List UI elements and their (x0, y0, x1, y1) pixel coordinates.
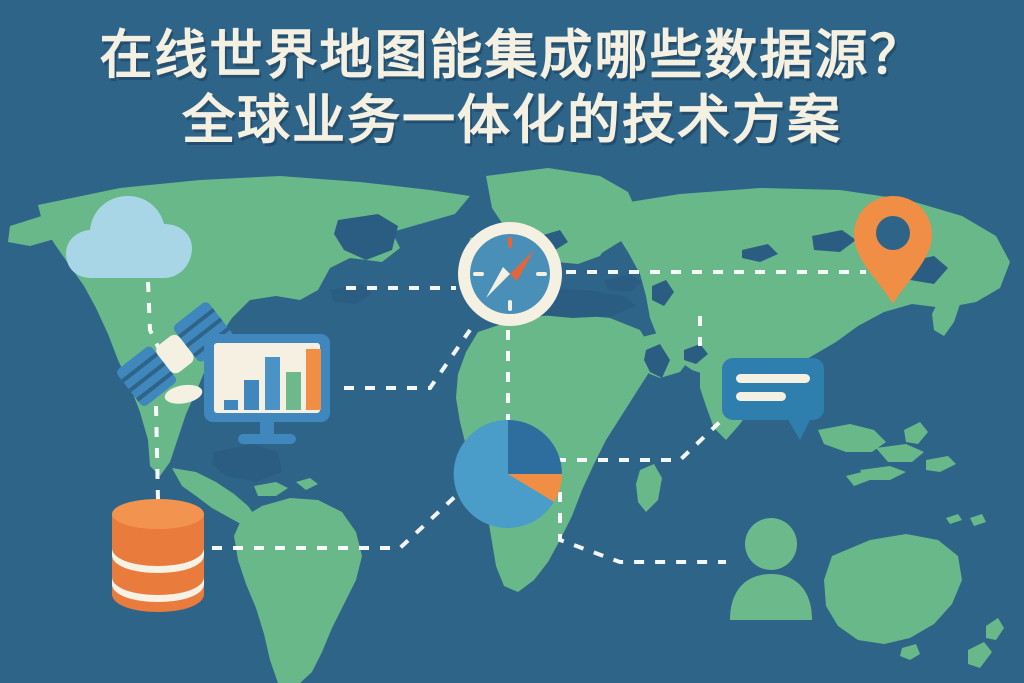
chat-bubble-tail (786, 416, 812, 440)
bar-chart-monitor-icon (202, 332, 342, 448)
database-top (112, 499, 204, 529)
link-pie-database (212, 492, 460, 548)
cloud-shape (66, 196, 192, 278)
chat-line-1 (736, 374, 810, 383)
infographic-poster: 在线世界地图能集成哪些数据源？ 全球业务一体化的技术方案 (0, 0, 1024, 683)
bar-5 (306, 349, 321, 410)
bar-4 (286, 372, 301, 410)
map-pin-icon (852, 194, 934, 306)
chat-line-2 (736, 392, 786, 401)
cloud-icon (66, 186, 198, 284)
user-head (745, 518, 797, 570)
link-pie-chat (556, 418, 724, 460)
user-body (730, 574, 812, 620)
compass-tick-east (536, 272, 547, 276)
chat-bubble-body (722, 358, 824, 420)
pie-chart-icon (450, 416, 566, 532)
link-cloud-database (156, 406, 158, 500)
bar-1 (224, 400, 238, 410)
database-icon (108, 498, 208, 614)
title-line-2: 全球业务一体化的技术方案 (0, 91, 1024, 150)
bar-2 (244, 380, 259, 410)
compass-icon (456, 220, 564, 328)
link-monitor-compass (344, 330, 470, 388)
compass-tick-west (473, 272, 484, 276)
compass-tick-south (508, 300, 512, 311)
chat-bubble-icon (720, 356, 830, 446)
page-title: 在线世界地图能集成哪些数据源？ 全球业务一体化的技术方案 (0, 26, 1024, 151)
title-line-1: 在线世界地图能集成哪些数据源？ (0, 26, 1024, 85)
user-avatar-icon (724, 516, 818, 620)
compass-tick-north (508, 237, 512, 248)
link-pie-user (560, 492, 726, 562)
pie-slice-other (508, 420, 562, 474)
monitor-stand (238, 434, 296, 444)
monitor-neck (260, 422, 274, 436)
map-pin-hole (876, 216, 910, 250)
bar-3 (265, 357, 280, 410)
